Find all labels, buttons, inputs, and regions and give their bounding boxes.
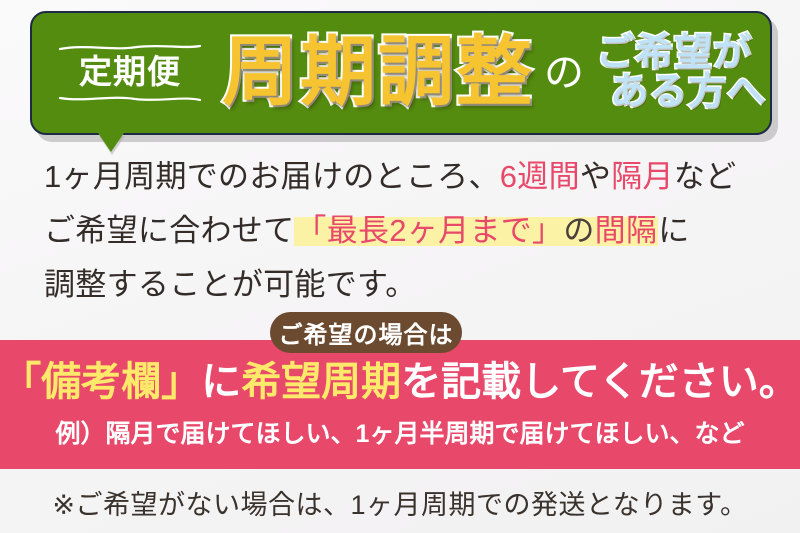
pink-section: 「備考欄」に希望周期を記載してください。 例）隔月で届けてほしい、1ヶ月半周期で…	[0, 340, 800, 469]
header-main-title: 周期調整	[222, 35, 534, 111]
body-line-1-part-a: 1ヶ月周期でのお届けのところ、	[44, 159, 500, 194]
header-particle: の	[544, 53, 584, 93]
header-bubble: 定期便 周期調整 の ご希望が ある方へ	[30, 11, 772, 135]
body-line-2-accent-2: 間隔	[595, 213, 658, 248]
subscription-tag-label: 定期便	[54, 54, 206, 90]
pink-headline-part-c: 希望周期	[241, 360, 401, 404]
body-line-1: 1ヶ月周期でのお届けのところ、6週間や隔月など	[44, 150, 774, 204]
body-copy: 1ヶ月周期でのお届けのところ、6週間や隔月など ご希望に合わせて「最長2ヶ月まで…	[44, 150, 774, 312]
body-line-2-accent-1: 「最長2ヶ月まで」	[295, 213, 563, 248]
wave-line-top-icon	[57, 43, 203, 52]
pink-headline-part-d: を記載してください。	[401, 360, 799, 404]
body-line-3: 調整することが可能です。	[44, 258, 774, 312]
body-line-1-part-c: や	[580, 159, 611, 194]
body-line-1-part-e: など	[674, 159, 737, 194]
pink-headline: 「備考欄」に希望周期を記載してください。	[0, 362, 800, 402]
body-line-2-part-a: ご希望に合わせて	[44, 213, 294, 248]
body-line-2-highlight: 「最長2ヶ月まで」の間隔	[294, 213, 658, 248]
promo-banner: 定期便 周期調整 の ご希望が ある方へ 1ヶ月周期でのお届けのところ、6週間や…	[0, 0, 800, 533]
body-line-1-accent-1: 6週間	[500, 159, 580, 194]
header-wish-block: ご希望が ある方へ	[596, 34, 766, 112]
pink-headline-part-a: 「備考欄」	[1, 360, 201, 404]
badge-request-case-label: ご希望の場合は	[279, 315, 454, 350]
pink-example-text: 例）隔月で届けてほしい、1ヶ月半周期で届けてほしい、など	[0, 422, 800, 447]
badge-request-case: ご希望の場合は	[270, 312, 462, 353]
header-wish-line-2: ある方へ	[610, 73, 766, 112]
wave-line-bottom-icon	[57, 94, 203, 103]
subscription-tag: 定期便	[54, 37, 206, 108]
pink-headline-part-b: に	[201, 360, 241, 404]
header-wish-line-1: ご希望が	[596, 34, 766, 73]
body-line-1-accent-2: 隔月	[611, 159, 674, 194]
footer-note: ※ご希望がない場合は、1ヶ月周期での発送となります。	[0, 483, 800, 522]
body-line-2-part-c: の	[563, 213, 594, 248]
body-line-2: ご希望に合わせて「最長2ヶ月まで」の間隔に	[44, 204, 774, 258]
body-line-2-part-e: に	[658, 213, 689, 248]
